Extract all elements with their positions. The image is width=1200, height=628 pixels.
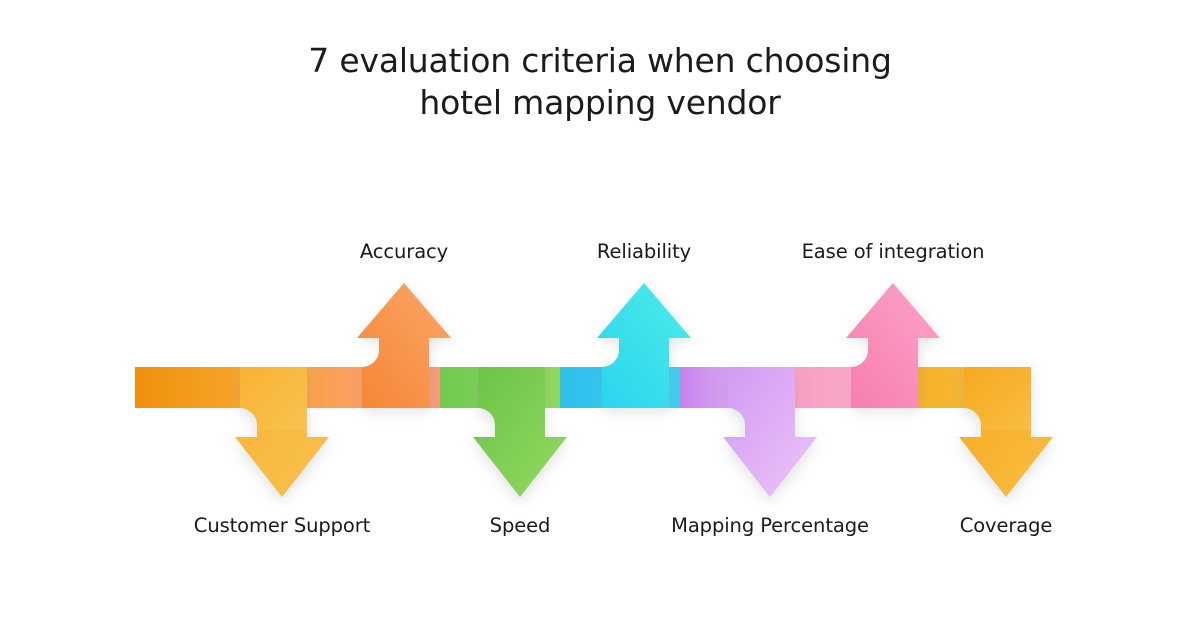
- label-coverage: Coverage: [960, 514, 1053, 537]
- label-ease-of-integration: Ease of integration: [802, 240, 985, 263]
- label-customer-support: Customer Support: [194, 514, 370, 537]
- infographic-canvas: 7 evaluation criteria when choosing hote…: [0, 0, 1200, 628]
- label-mapping-percentage: Mapping Percentage: [671, 514, 869, 537]
- label-reliability: Reliability: [597, 240, 691, 263]
- label-speed: Speed: [490, 514, 551, 537]
- label-accuracy: Accuracy: [360, 240, 448, 263]
